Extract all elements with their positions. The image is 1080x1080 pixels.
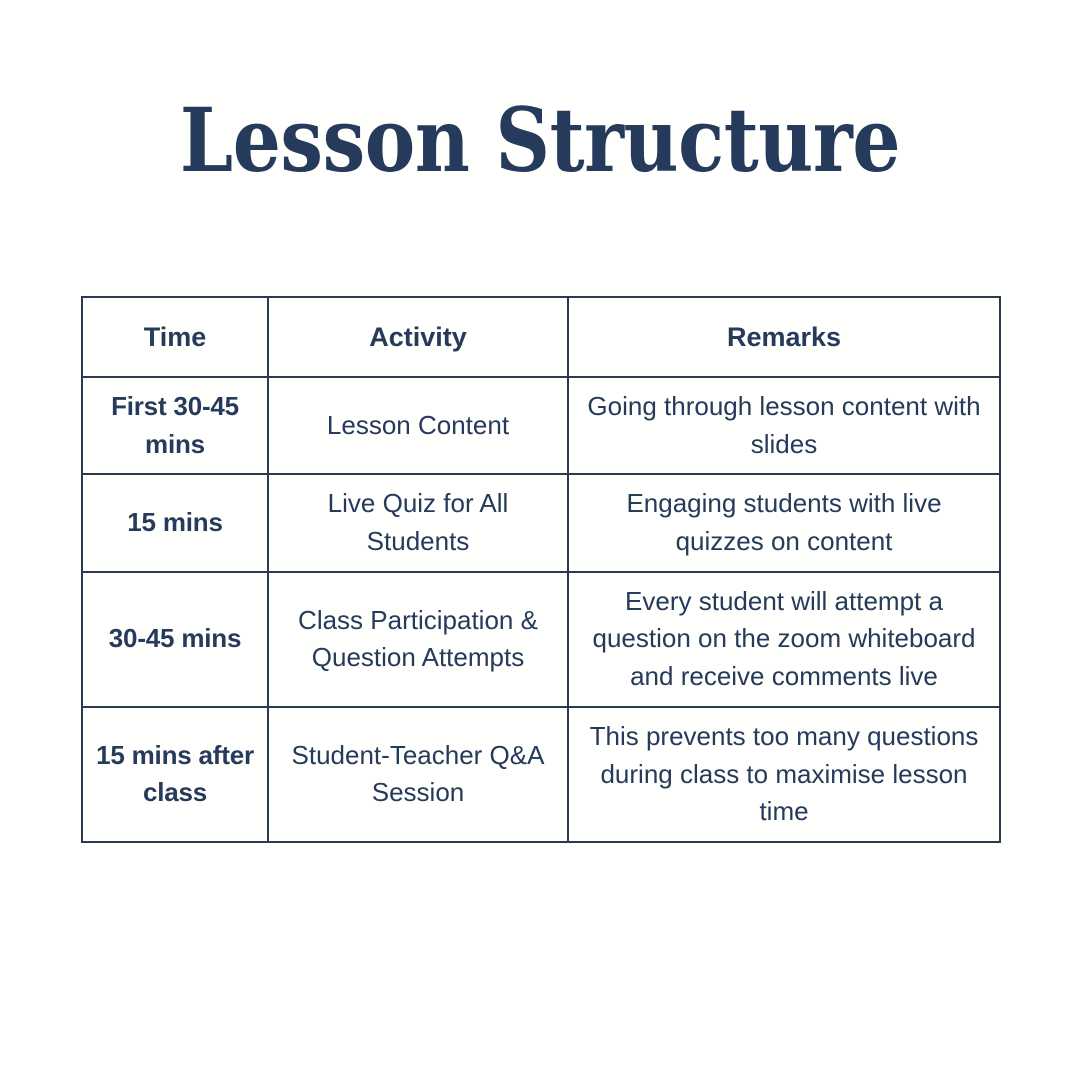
column-header-activity: Activity [268, 297, 568, 377]
cell-remarks: This prevents too many questions during … [568, 707, 1000, 842]
cell-time: 15 mins [82, 474, 268, 571]
cell-activity: Lesson Content [268, 377, 568, 474]
table-header: Time Activity Remarks [82, 297, 1000, 377]
lesson-structure-table-wrapper: Time Activity Remarks First 30-45 mins L… [81, 296, 999, 843]
cell-time: First 30-45 mins [82, 377, 268, 474]
cell-activity: Live Quiz for All Students [268, 474, 568, 571]
table-row: 30-45 mins Class Participation & Questio… [82, 572, 1000, 707]
table-row: 15 mins Live Quiz for All Students Engag… [82, 474, 1000, 571]
table-body: First 30-45 mins Lesson Content Going th… [82, 377, 1000, 842]
column-header-time: Time [82, 297, 268, 377]
table-header-row: Time Activity Remarks [82, 297, 1000, 377]
page-title: Lesson Structure [76, 96, 1005, 184]
column-header-remarks: Remarks [568, 297, 1000, 377]
cell-remarks: Going through lesson content with slides [568, 377, 1000, 474]
cell-time: 15 mins after class [82, 707, 268, 842]
cell-activity: Student-Teacher Q&A Session [268, 707, 568, 842]
cell-remarks: Engaging students with live quizzes on c… [568, 474, 1000, 571]
table-row: 15 mins after class Student-Teacher Q&A … [82, 707, 1000, 842]
lesson-structure-table: Time Activity Remarks First 30-45 mins L… [81, 296, 1001, 843]
slide-canvas: Lesson Structure Time Activity Remarks F… [0, 0, 1080, 1080]
table-row: First 30-45 mins Lesson Content Going th… [82, 377, 1000, 474]
cell-activity: Class Participation & Question Attempts [268, 572, 568, 707]
cell-remarks: Every student will attempt a question on… [568, 572, 1000, 707]
cell-time: 30-45 mins [82, 572, 268, 707]
